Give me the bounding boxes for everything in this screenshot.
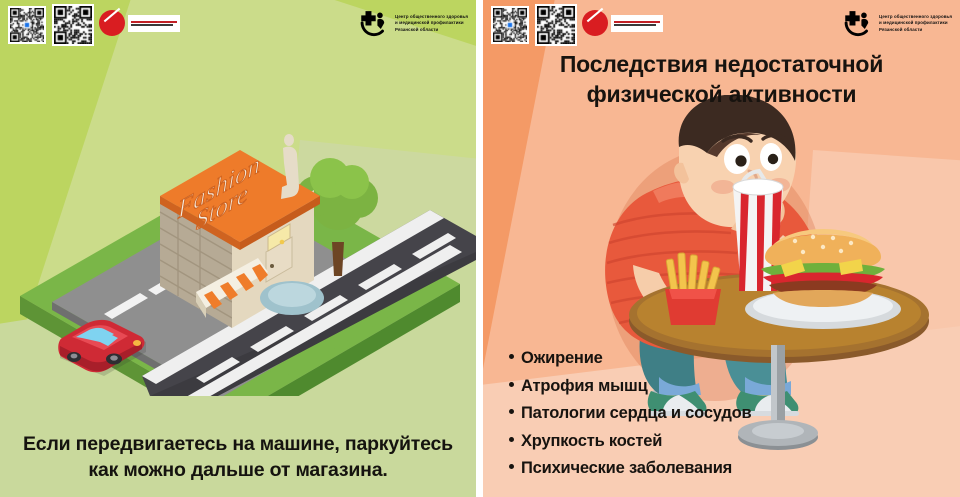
red-round-badge — [99, 9, 180, 37]
list-item: Патологии сердца и сосудов — [509, 400, 751, 428]
health-center-logo: Центр общественного здоровья и медицинск… — [841, 5, 952, 41]
qr-code-left[interactable] — [8, 6, 46, 44]
title-line-1: Последствия недостаточной — [483, 49, 960, 79]
right-poster-panel: Центр общественного здоровья и медицинск… — [483, 0, 960, 497]
store-parking-illustration: Fashion Store — [0, 46, 476, 396]
list-item-label: Ожирение — [521, 345, 603, 373]
health-center-logo-text: Центр общественного здоровья и медицинск… — [395, 14, 468, 32]
poster-canvas: Центр общественного здоровья и медицинск… — [0, 0, 960, 497]
qr-code-right[interactable] — [52, 4, 94, 46]
list-item-label: Патологии сердца и сосудов — [521, 400, 751, 428]
bullet-dot-icon — [509, 437, 514, 442]
consequences-list-items: Ожирение Атрофия мышц Патологии сердца и… — [509, 345, 751, 483]
list-item-label: Психические заболевания — [521, 455, 732, 483]
org-line-1: Центр общественного здоровья — [879, 14, 952, 19]
list-item-label: Атрофия мышц — [521, 373, 648, 401]
badge-circle-icon — [582, 10, 608, 36]
org-line-2: и медицинской профилактики — [395, 20, 468, 25]
right-header-bar: Центр общественного здоровья и медицинск… — [483, 0, 960, 46]
burger — [761, 229, 885, 307]
bullet-dot-icon — [509, 464, 514, 469]
consequences-list: Ожирение Атрофия мышц Патологии сердца и… — [509, 345, 751, 483]
entrance-pad — [260, 281, 324, 315]
left-poster-panel: Центр общественного здоровья и медицинск… — [0, 0, 476, 497]
red-round-badge — [582, 9, 663, 37]
left-caption: Если передвигаетесь на машине, паркуйтес… — [14, 431, 462, 483]
right-panel-title: Последствия недостаточной физической акт… — [483, 49, 960, 109]
health-center-logo: Центр общественного здоровья и медицинск… — [357, 5, 468, 41]
qr-code-right[interactable] — [535, 4, 577, 46]
fashion-store-building: Fashion Store — [160, 134, 324, 328]
title-line-2: физической активности — [483, 79, 960, 109]
badge-text-box — [611, 15, 663, 32]
list-item-label: Хрупкость костей — [521, 428, 662, 456]
qr-code-left[interactable] — [491, 6, 529, 44]
list-item: Психические заболевания — [509, 455, 751, 483]
health-center-emblem-icon — [357, 6, 391, 40]
org-line-3: Рязанской области — [395, 27, 468, 32]
badge-circle-icon — [99, 10, 125, 36]
left-header-bar: Центр общественного здоровья и медицинск… — [0, 0, 476, 46]
bullet-dot-icon — [509, 354, 514, 359]
list-item: Хрупкость костей — [509, 428, 751, 456]
org-line-1: Центр общественного здоровья — [395, 14, 468, 19]
health-center-logo-text: Центр общественного здоровья и медицинск… — [879, 14, 952, 32]
list-item: Атрофия мышц — [509, 373, 751, 401]
badge-text-box — [128, 15, 180, 32]
list-item: Ожирение — [509, 345, 751, 373]
panel-divider — [476, 0, 483, 497]
health-center-emblem-icon — [841, 6, 875, 40]
org-line-3: Рязанской области — [879, 27, 952, 32]
org-line-2: и медицинской профилактики — [879, 20, 952, 25]
bullet-dot-icon — [509, 382, 514, 387]
bullet-dot-icon — [509, 409, 514, 414]
mannequin-figure — [281, 134, 299, 199]
